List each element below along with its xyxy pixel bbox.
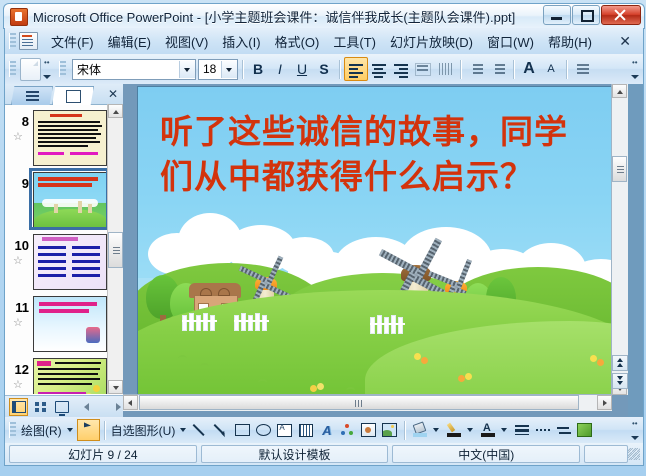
pane-scroll-mini[interactable]	[84, 403, 121, 411]
toolbar-separator	[404, 421, 405, 440]
menu-insert[interactable]: 插入(I)	[215, 29, 267, 54]
bulleted-list-icon[interactable]	[487, 58, 509, 80]
powerpoint-window: Microsoft Office PowerPoint - [小学主题班会课件：…	[0, 0, 646, 476]
fill-color-caret-icon[interactable]	[433, 428, 439, 432]
formatting-toolbar-overflow[interactable]: ••	[630, 57, 641, 81]
thumbnail-number: 11	[11, 300, 29, 315]
flower-3	[590, 355, 606, 367]
slide-transition-star-icon	[13, 380, 23, 390]
menu-tools[interactable]: 工具(T)	[326, 29, 383, 54]
align-left-icon[interactable]	[344, 57, 368, 81]
menu-format[interactable]: 格式(O)	[268, 29, 327, 54]
line-color-caret-icon[interactable]	[467, 428, 473, 432]
slide-transition-star-icon	[13, 256, 23, 266]
toolbar-separator	[513, 60, 514, 79]
scroll-right-button[interactable]	[597, 395, 612, 410]
list-item[interactable]: 11	[5, 296, 109, 352]
slide-counter: 幻灯片 9 / 24	[9, 445, 197, 463]
3d-style-icon[interactable]	[574, 420, 595, 440]
decrease-font-label: A	[547, 63, 554, 75]
current-slide[interactable]: 听了这些诚信的故事，同学 们从中都获得什么启示？	[137, 86, 612, 396]
draw-menu-caret-icon[interactable]	[67, 428, 73, 432]
vertical-text-box-icon[interactable]	[295, 420, 316, 440]
underline-label: U	[297, 61, 307, 77]
line-color-icon[interactable]	[443, 420, 464, 440]
previous-next-slide-buttons	[612, 355, 628, 393]
wordart-icon[interactable]: A	[316, 420, 337, 440]
decrease-font-size-icon[interactable]: A	[540, 58, 562, 80]
slides-tab[interactable]	[52, 86, 94, 105]
italic-label: I	[278, 61, 282, 77]
slides-tab-icon	[66, 90, 81, 103]
thumbnail-number: 12	[11, 362, 29, 377]
design-template-name[interactable]: 默认设计模板	[201, 445, 389, 463]
pane-tabs: ✕	[5, 84, 123, 105]
menu-slideshow[interactable]: 幻灯片放映(D)	[383, 29, 480, 54]
workspace: ✕ 8	[4, 84, 644, 417]
document-menu-icon[interactable]	[19, 32, 38, 50]
toolbar-separator	[566, 60, 567, 79]
formatting-toolbar-gripper[interactable]	[59, 61, 66, 77]
scroll-up-button[interactable]	[108, 104, 123, 118]
thumbnail-number: 10	[11, 238, 29, 253]
oval-icon[interactable]	[253, 420, 274, 440]
font-name-dropdown-arrow[interactable]	[179, 61, 195, 78]
arrow-style-icon[interactable]	[553, 420, 574, 440]
toolbar-separator	[460, 60, 461, 79]
minimize-button[interactable]	[543, 5, 571, 25]
slide-transition-star-icon	[13, 132, 23, 142]
font-name-value: 宋体	[73, 61, 101, 78]
rectangle-icon[interactable]	[232, 420, 253, 440]
scrollbar-thumb[interactable]	[108, 232, 123, 268]
line-style-icon[interactable]	[511, 420, 532, 440]
increase-font-label: A	[523, 60, 535, 78]
menu-edit[interactable]: 编辑(E)	[101, 29, 158, 54]
resize-grip[interactable]	[628, 448, 640, 460]
window-title: Microsoft Office PowerPoint - [小学主题班会课件：…	[33, 7, 515, 26]
slide-scroll-up-button[interactable]	[612, 84, 627, 98]
font-color-caret-icon[interactable]	[501, 428, 507, 432]
list-item[interactable]: 10	[5, 234, 109, 290]
selected-slide-highlight	[29, 168, 109, 230]
toolbar-separator	[242, 60, 243, 79]
normal-view-button[interactable]	[9, 398, 28, 416]
close-document-button[interactable]: ✕	[615, 33, 635, 50]
fence-center	[370, 317, 405, 334]
font-size-combobox[interactable]: 18	[198, 59, 238, 80]
maximize-button[interactable]	[572, 5, 600, 25]
slide-thumbnail-pane: ✕ 8	[5, 84, 124, 417]
menu-file[interactable]: 文件(F)	[44, 29, 101, 54]
menu-help[interactable]: 帮助(H)	[541, 29, 599, 54]
bold-button[interactable]: B	[247, 58, 269, 80]
status-bar: 幻灯片 9 / 24 默认设计模板 中文(中国)	[4, 443, 644, 466]
slide-title-line-1: 听了这些诚信的故事，同学	[160, 109, 590, 154]
text-shadow-button[interactable]: S	[313, 58, 335, 80]
fence-left	[182, 315, 217, 331]
align-center-icon[interactable]	[368, 58, 390, 80]
insert-picture-icon[interactable]	[379, 420, 400, 440]
view-buttons-bar	[5, 395, 123, 417]
italic-button[interactable]: I	[269, 58, 291, 80]
arrow-icon[interactable]	[211, 420, 232, 440]
hscrollbar-thumb[interactable]	[139, 395, 579, 410]
standard-toolbar-overflow[interactable]: ••	[42, 57, 53, 81]
fence-middle-left	[234, 315, 269, 331]
menu-window[interactable]: 窗口(W)	[480, 29, 541, 54]
autoshapes-caret-icon[interactable]	[180, 428, 186, 432]
standard-toolbar-gripper[interactable]	[9, 61, 16, 77]
font-name-combobox[interactable]: 宋体	[72, 59, 196, 80]
list-item[interactable]: 9	[5, 172, 109, 228]
slide-scrollbar-thumb[interactable]	[612, 156, 627, 182]
text-direction-icon[interactable]	[434, 58, 456, 80]
title-bar: Microsoft Office PowerPoint - [小学主题班会课件：…	[3, 3, 645, 29]
select-arrow-icon[interactable]	[77, 419, 100, 441]
fill-color-icon[interactable]	[409, 420, 430, 440]
slide-vertical-scrollbar[interactable]	[611, 84, 628, 395]
shadow-label: S	[319, 61, 328, 77]
menu-view[interactable]: 视图(V)	[158, 29, 215, 54]
wordart-label: A	[322, 423, 331, 438]
grass-tuft-2	[200, 363, 209, 370]
align-right-icon[interactable]	[390, 58, 412, 80]
line-spacing-icon[interactable]	[412, 58, 434, 80]
menu-gripper[interactable]	[9, 33, 16, 49]
increase-font-size-icon[interactable]: A	[518, 58, 540, 80]
powerpoint-icon	[10, 8, 28, 26]
slide-horizontal-scrollbar[interactable]	[123, 394, 612, 411]
list-item[interactable]: 8	[5, 110, 109, 166]
close-button[interactable]	[601, 5, 641, 25]
slide-edit-area: 听了这些诚信的故事，同学 们从中都获得什么启示？	[123, 84, 628, 417]
status-spare-cell	[584, 445, 628, 463]
slide-title-line-2: 们从中都获得什么启示？	[160, 154, 590, 199]
diagram-icon[interactable]	[337, 420, 358, 440]
font-size-dropdown-arrow[interactable]	[221, 61, 237, 78]
grass-tuft-3	[258, 379, 267, 386]
previous-slide-button[interactable]	[612, 355, 628, 371]
thumbnail-number: 9	[11, 176, 29, 191]
toolbar-separator	[104, 421, 105, 440]
slide-sorter-view-button[interactable]	[32, 399, 49, 415]
thumbnail-scrollbar[interactable]	[107, 104, 123, 394]
slide-show-view-button[interactable]	[53, 399, 70, 415]
draw-menu-button[interactable]: 绘图(R)	[19, 422, 64, 439]
autoshapes-menu-button[interactable]: 自选图形(U)	[109, 422, 178, 439]
flower-2	[458, 373, 474, 385]
font-color-icon[interactable]: A	[477, 420, 498, 440]
thumbnail-image[interactable]	[33, 110, 107, 166]
window-controls	[543, 5, 641, 25]
text-box-icon[interactable]	[274, 420, 295, 440]
thumbnail-list: 8	[5, 104, 123, 394]
clip-art-icon[interactable]	[358, 420, 379, 440]
menu-bar: 文件(F) 编辑(E) 视图(V) 插入(I) 格式(O) 工具(T) 幻灯片放…	[4, 28, 644, 54]
toolbar-separator	[339, 60, 340, 79]
grass-tuft-4	[346, 387, 355, 394]
close-pane-button[interactable]: ✕	[108, 87, 118, 101]
thumbnail-image[interactable]	[33, 234, 107, 290]
slide-transition-star-icon	[13, 318, 23, 328]
thumbnail-image[interactable]	[33, 296, 107, 352]
list-item[interactable]: 12	[5, 358, 109, 394]
bold-label: B	[253, 61, 263, 77]
next-slide-button[interactable]	[612, 373, 628, 389]
new-document-icon[interactable]	[20, 58, 41, 81]
line-icon[interactable]	[190, 420, 211, 440]
scroll-left-button[interactable]	[123, 395, 138, 410]
drawing-toolbar-gripper[interactable]	[9, 422, 16, 438]
language-indicator[interactable]: 中文(中国)	[392, 445, 580, 463]
slide-title-text[interactable]: 听了这些诚信的故事，同学 们从中都获得什么启示？	[160, 109, 590, 199]
thumbnail-number: 8	[11, 114, 29, 129]
font-size-value: 18	[199, 62, 216, 76]
thumbnail-image[interactable]	[33, 358, 107, 394]
drawing-toolbar-overflow[interactable]: ••	[630, 418, 641, 442]
grass-tuft-1	[178, 355, 187, 362]
outline-tab-icon	[26, 91, 39, 102]
drawing-toolbar: 绘图(R) 自选图形(U) A A	[4, 417, 644, 443]
flower-1	[414, 353, 430, 365]
scroll-down-button[interactable]	[108, 380, 123, 394]
underline-button[interactable]: U	[291, 58, 313, 80]
outline-tab[interactable]	[11, 86, 53, 105]
formatting-toolbar: •• 宋体 18 B I U S	[4, 54, 644, 84]
indent-icon[interactable]	[571, 58, 593, 80]
numbered-list-icon[interactable]	[465, 58, 487, 80]
dash-style-icon[interactable]	[532, 420, 553, 440]
